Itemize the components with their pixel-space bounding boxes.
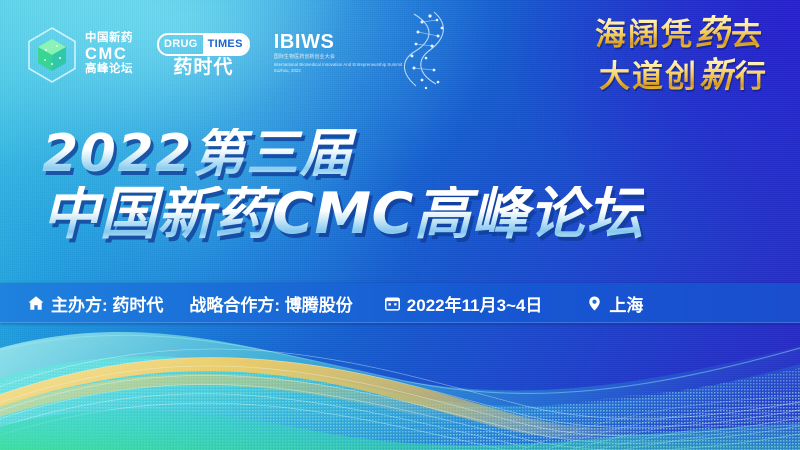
slogan-line-2: 大道创新行: [595, 58, 768, 93]
slogan-2-part-1: 大道创: [599, 59, 698, 95]
drug-times-logo[interactable]: DRUG TIMES 药时代: [157, 33, 250, 77]
home-icon: [27, 294, 45, 312]
slogan-1-part-1: 海阔凭: [595, 17, 694, 53]
slogan-2-part-2: 新: [698, 55, 735, 96]
hexagon-cube-icon: [26, 26, 78, 84]
cmc-forum-logo[interactable]: 中国新药 CMC 高峰论坛: [26, 26, 133, 84]
slogan-line-1: 海阔凭药去: [595, 16, 764, 51]
conference-banner: 中国新药 CMC 高峰论坛 DRUG TIMES 药时代 IBIWS 国际生物医…: [0, 0, 800, 450]
info-strategic-partner-label: 战略合作方: 博腾股份: [189, 291, 352, 316]
page-title: 2022第三届 中国新药CMC高峰论坛: [42, 128, 644, 243]
cmc-logo-line3: 高峰论坛: [85, 64, 133, 76]
calendar-icon: [384, 295, 401, 312]
info-strategic-partner: 战略合作方: 博腾股份: [189, 291, 352, 316]
info-date: 2022年11月3~4日: [384, 291, 543, 316]
drug-times-right-text: TIMES: [203, 35, 248, 54]
ibiws-logo[interactable]: IBIWS 国际生物医药创新创业大会 International Biomedi…: [274, 14, 451, 95]
info-organizer: 主办方: 药时代: [27, 291, 163, 316]
info-location-label: 上海: [609, 291, 643, 316]
drug-times-pill: DRUG TIMES: [157, 33, 250, 56]
event-info-bar: 主办方: 药时代 战略合作方: 博腾股份 2022年11月3~4日: [0, 283, 800, 323]
drug-times-left-text: DRUG: [159, 35, 203, 54]
info-date-label: 2022年11月3~4日: [407, 291, 543, 316]
ibiws-subtitle-cn: 国际生物医药创新创业大会: [274, 54, 403, 62]
ibiws-subtitle-year: Suzhou, 2022: [274, 68, 403, 74]
gold-slogan: 海阔凭药去 大道创新行: [595, 16, 764, 93]
slogan-1-part-2: 药: [694, 13, 731, 54]
info-organizer-label: 主办方: 药时代: [51, 291, 163, 316]
cmc-logo-line2: CMC: [85, 46, 133, 63]
location-pin-icon: [586, 295, 603, 312]
dna-helix-icon: [404, 10, 450, 95]
slogan-2-part-3: 行: [735, 59, 768, 95]
title-line-2: 中国新药CMC高峰论坛: [42, 186, 644, 243]
ibiws-wordmark: IBIWS: [274, 32, 403, 52]
partner-logo-strip: 中国新药 CMC 高峰论坛 DRUG TIMES 药时代 IBIWS 国际生物医…: [26, 14, 450, 95]
cmc-logo-line1: 中国新药: [85, 33, 133, 45]
slogan-1-part-3: 去: [731, 17, 764, 53]
title-line-1: 2022第三届: [42, 128, 644, 180]
drug-times-cn-text: 药时代: [173, 58, 233, 77]
info-location: 上海: [586, 291, 643, 316]
